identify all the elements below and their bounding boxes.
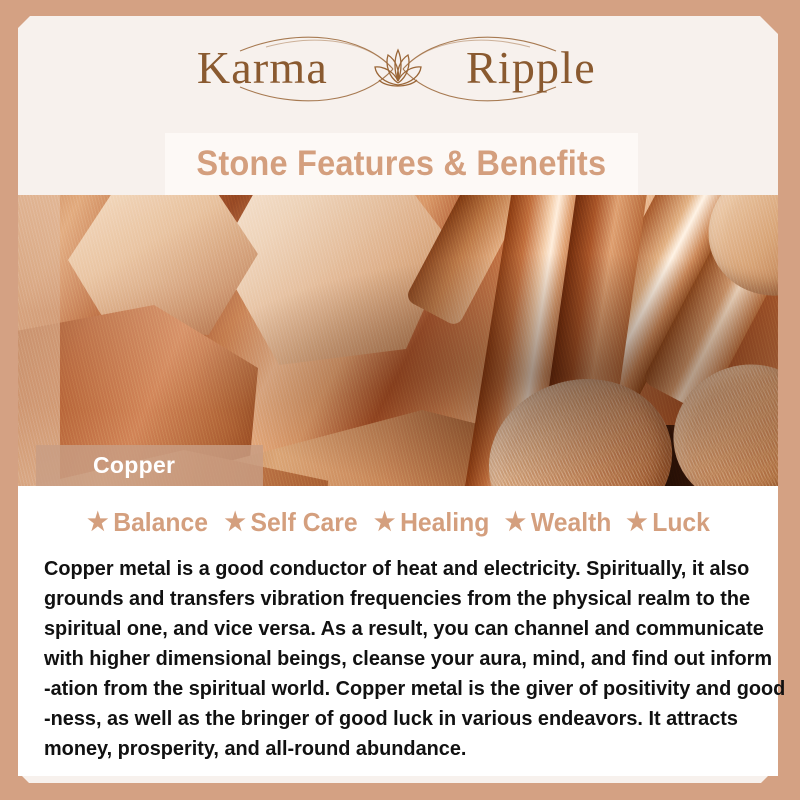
frame-border-left bbox=[0, 0, 18, 800]
star-icon: ★ bbox=[87, 510, 108, 535]
lotus-icon bbox=[375, 50, 421, 86]
feature-label: Healing bbox=[400, 507, 489, 538]
brand-logo: Karma Ripple bbox=[18, 16, 778, 130]
title-banner: Stone Features & Benefits bbox=[165, 133, 638, 195]
hero-caption-bar: Copper bbox=[36, 445, 263, 486]
feature-label: Wealth bbox=[531, 507, 612, 538]
content-panel: ★ Balance ★ Self Care ★ Healing ★ Wealth… bbox=[18, 486, 778, 776]
feature-item-balance: ★ Balance bbox=[87, 507, 208, 538]
body-line: -ness, as well as the bringer of good lu… bbox=[44, 704, 731, 734]
hero-image: Copper bbox=[18, 195, 778, 486]
frame-border-bottom bbox=[0, 783, 800, 800]
photo-vignette bbox=[18, 195, 778, 486]
brand-name-right: Ripple bbox=[466, 42, 596, 93]
logo-svg: Karma Ripple bbox=[188, 23, 608, 123]
body-paragraph: Copper metal is a good conductor of heat… bbox=[44, 554, 731, 764]
feature-label: Self Care bbox=[250, 507, 357, 538]
body-line: money, prosperity, and all-round abundan… bbox=[44, 734, 731, 764]
star-icon: ★ bbox=[505, 510, 526, 535]
body-line: grounds and transfers vibration frequenc… bbox=[44, 584, 731, 614]
body-line: with higher dimensional beings, cleanse … bbox=[44, 644, 731, 674]
body-line: -ation from the spiritual world. Copper … bbox=[44, 674, 731, 704]
feature-label: Luck bbox=[653, 507, 711, 538]
body-line: Copper metal is a good conductor of heat… bbox=[44, 554, 731, 584]
star-icon: ★ bbox=[627, 510, 648, 535]
star-icon: ★ bbox=[224, 510, 245, 535]
feature-item-self-care: ★ Self Care bbox=[224, 507, 357, 538]
feature-item-healing: ★ Healing bbox=[374, 507, 489, 538]
star-icon: ★ bbox=[374, 510, 395, 535]
infographic-page: Karma Ripple Stone Features & Benefits bbox=[0, 0, 800, 800]
feature-item-wealth: ★ Wealth bbox=[505, 507, 612, 538]
feature-item-luck: ★ Luck bbox=[627, 507, 711, 538]
body-line: spiritual one, and vice versa. As a resu… bbox=[44, 614, 731, 644]
brand-name-left: Karma bbox=[197, 42, 328, 93]
page-title: Stone Features & Benefits bbox=[197, 144, 607, 184]
feature-label: Balance bbox=[113, 507, 208, 538]
copper-photo bbox=[18, 195, 778, 486]
frame-border-top bbox=[0, 0, 800, 16]
feature-list: ★ Balance ★ Self Care ★ Healing ★ Wealth… bbox=[18, 486, 778, 542]
hero-caption-label: Copper bbox=[93, 452, 175, 479]
